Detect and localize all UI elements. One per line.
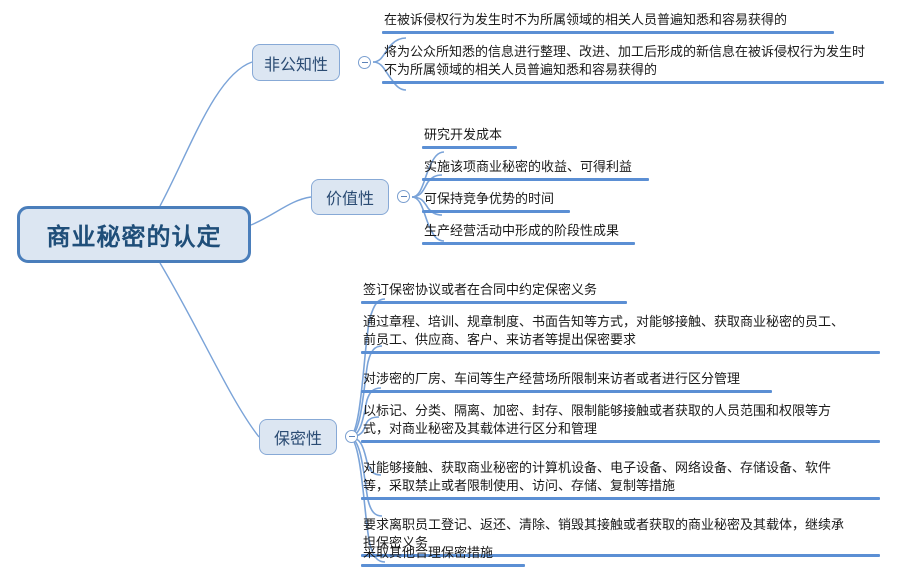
leaf-node-text: 对涉密的厂房、车间等生产经营场所限制来访者或者进行区分管理 (361, 370, 772, 390)
leaf-node[interactable]: 研究开发成本 (422, 126, 517, 149)
leaf-node-text: 采取其他合理保密措施 (361, 544, 525, 564)
leaf-node-text: 研究开发成本 (422, 126, 517, 146)
leaf-node-text: 将为公众所知悉的信息进行整理、改进、加工后形成的新信息在被诉侵权行为发生时 不为… (382, 43, 884, 81)
leaf-underline (422, 210, 570, 213)
branch-node-label: 价值性 (326, 185, 374, 209)
leaf-underline (361, 351, 880, 354)
leaf-underline (361, 497, 880, 500)
leaf-node[interactable]: 在被诉侵权行为发生时不为所属领域的相关人员普遍知悉和容易获得的 (382, 11, 834, 34)
leaf-underline (361, 390, 772, 393)
collapse-toggle-icon-confidentiality[interactable] (345, 430, 358, 443)
leaf-node[interactable]: 以标记、分类、隔离、加密、封存、限制能够接触或者获取的人员范围和权限等方 式，对… (361, 402, 880, 443)
leaf-node-text: 通过章程、培训、规章制度、书面告知等方式，对能够接触、获取商业秘密的员工、 前员… (361, 313, 880, 351)
branch-node-label: 保密性 (274, 425, 322, 449)
leaf-node-text: 以标记、分类、隔离、加密、封存、限制能够接触或者获取的人员范围和权限等方 式，对… (361, 402, 880, 440)
collapse-toggle-icon-non-public[interactable] (358, 56, 371, 69)
leaf-node-text: 在被诉侵权行为发生时不为所属领域的相关人员普遍知悉和容易获得的 (382, 11, 834, 31)
leaf-node[interactable]: 生产经营活动中形成的阶段性成果 (422, 222, 635, 245)
leaf-underline (361, 440, 880, 443)
leaf-node[interactable]: 签订保密协议或者在合同中约定保密义务 (361, 281, 627, 304)
mindmap-canvas: 商业秘密的认定 非公知性 在被诉侵权行为发生时不为所属领域的相关人员普遍知悉和容… (0, 0, 906, 579)
leaf-node[interactable]: 采取其他合理保密措施 (361, 544, 525, 567)
leaf-underline (361, 564, 525, 567)
branch-node-non-public[interactable]: 非公知性 (252, 44, 340, 81)
leaf-node-text: 签订保密协议或者在合同中约定保密义务 (361, 281, 627, 301)
leaf-underline (382, 31, 834, 34)
leaf-node-text: 生产经营活动中形成的阶段性成果 (422, 222, 635, 242)
leaf-node-text: 可保持竞争优势的时间 (422, 190, 570, 210)
collapse-toggle-icon-value[interactable] (397, 190, 410, 203)
leaf-node-text: 实施该项商业秘密的收益、可得利益 (422, 158, 649, 178)
leaf-node-text: 对能够接触、获取商业秘密的计算机设备、电子设备、网络设备、存储设备、软件 等，采… (361, 459, 880, 497)
leaf-underline (422, 242, 635, 245)
root-node-label: 商业秘密的认定 (47, 217, 222, 252)
branch-node-value[interactable]: 价值性 (311, 179, 389, 215)
leaf-underline (422, 146, 517, 149)
leaf-node[interactable]: 可保持竞争优势的时间 (422, 190, 570, 213)
leaf-node[interactable]: 将为公众所知悉的信息进行整理、改进、加工后形成的新信息在被诉侵权行为发生时 不为… (382, 43, 884, 84)
leaf-underline (382, 81, 884, 84)
leaf-node[interactable]: 通过章程、培训、规章制度、书面告知等方式，对能够接触、获取商业秘密的员工、 前员… (361, 313, 880, 354)
root-node[interactable]: 商业秘密的认定 (17, 206, 251, 263)
leaf-node[interactable]: 对能够接触、获取商业秘密的计算机设备、电子设备、网络设备、存储设备、软件 等，采… (361, 459, 880, 500)
leaf-underline (422, 178, 649, 181)
leaf-node[interactable]: 对涉密的厂房、车间等生产经营场所限制来访者或者进行区分管理 (361, 370, 772, 393)
branch-node-label: 非公知性 (264, 51, 328, 75)
leaf-node[interactable]: 实施该项商业秘密的收益、可得利益 (422, 158, 649, 181)
leaf-underline (361, 301, 627, 304)
branch-node-confidentiality[interactable]: 保密性 (259, 419, 337, 455)
